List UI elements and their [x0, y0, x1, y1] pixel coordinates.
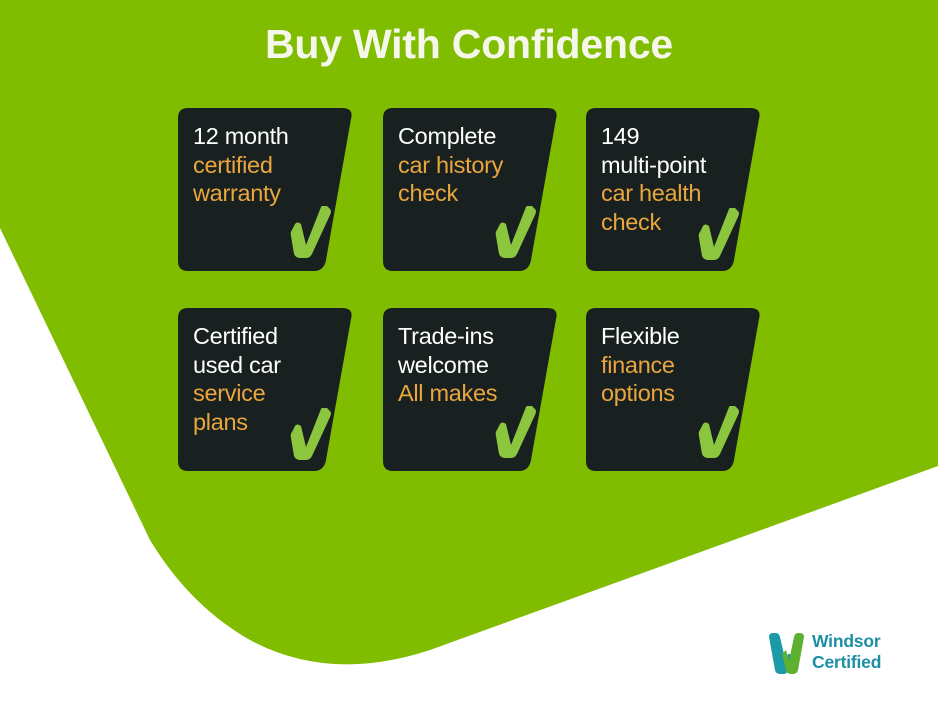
logo-line-certified: Certified	[812, 652, 881, 673]
card-text-block: Trade-ins welcome All makes	[398, 322, 548, 408]
card-line: car health	[601, 179, 751, 208]
check-icon	[698, 406, 740, 458]
benefit-card-flexible-finance-options[interactable]: Flexible finance options	[586, 308, 762, 471]
check-icon	[495, 406, 537, 458]
benefit-card-149-multi-point-car-health-check[interactable]: 149 multi-point car health check	[586, 108, 762, 271]
card-line: Complete	[398, 122, 548, 151]
card-line: service	[193, 379, 343, 408]
windsor-certified-logo[interactable]: Windsor Certified	[766, 630, 916, 678]
card-line: options	[601, 379, 751, 408]
benefit-card-trade-ins-welcome-all-makes[interactable]: Trade-ins welcome All makes	[383, 308, 559, 471]
poster-canvas: Buy With Confidence 12 month certified w…	[0, 0, 938, 704]
card-line: Flexible	[601, 322, 751, 351]
benefit-card-complete-car-history-check[interactable]: Complete car history check	[383, 108, 559, 271]
benefits-card-grid: 12 month certified warranty Complete car…	[0, 0, 938, 704]
card-text-block: Complete car history check	[398, 122, 548, 208]
card-line: car history	[398, 151, 548, 180]
benefit-card-12-month-certified-warranty[interactable]: 12 month certified warranty	[178, 108, 354, 271]
card-line: check	[398, 179, 548, 208]
card-line: used car	[193, 351, 343, 380]
logo-wordmark: Windsor Certified	[812, 631, 881, 673]
check-icon	[495, 206, 537, 258]
card-line: All makes	[398, 379, 548, 408]
check-icon	[698, 208, 740, 260]
card-line: warranty	[193, 179, 343, 208]
windsor-w-icon	[766, 632, 808, 674]
card-line: Trade-ins	[398, 322, 548, 351]
check-icon	[290, 206, 332, 258]
card-line: multi-point	[601, 151, 751, 180]
check-icon	[290, 408, 332, 460]
card-line: 12 month	[193, 122, 343, 151]
card-line: Certified	[193, 322, 343, 351]
logo-line-windsor: Windsor	[812, 631, 881, 652]
card-line: finance	[601, 351, 751, 380]
card-line: welcome	[398, 351, 548, 380]
card-text-block: 12 month certified warranty	[193, 122, 343, 208]
card-line: certified	[193, 151, 343, 180]
benefit-card-certified-used-car-service-plans[interactable]: Certified used car service plans	[178, 308, 354, 471]
page-title: Buy With Confidence	[0, 20, 938, 68]
card-text-block: Flexible finance options	[601, 322, 751, 408]
card-line: 149	[601, 122, 751, 151]
